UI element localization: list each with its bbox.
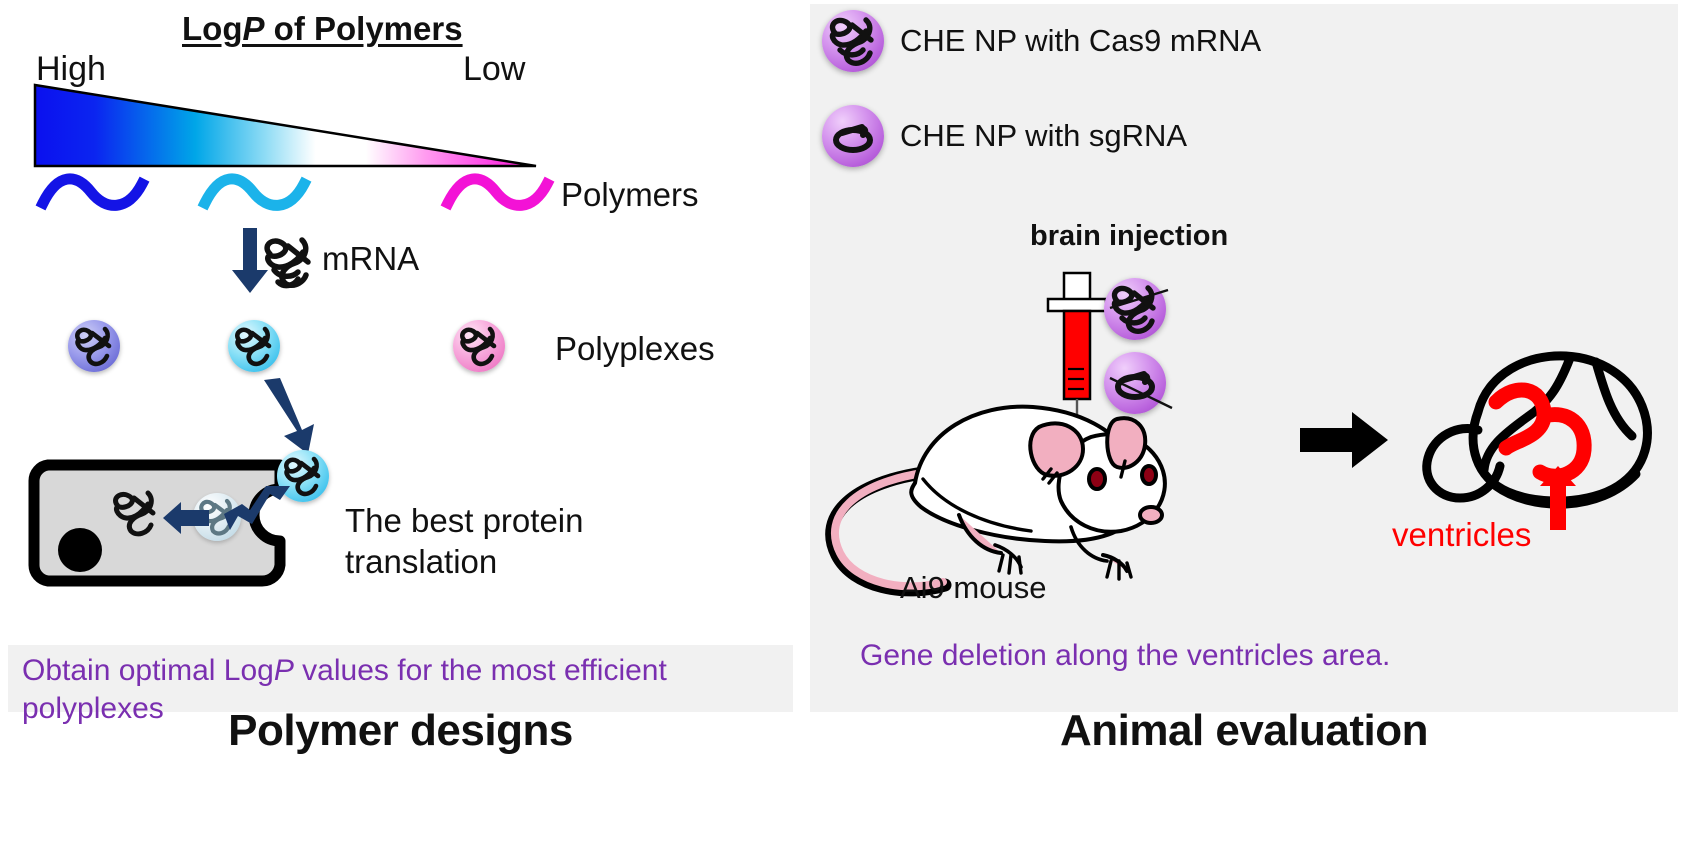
brain-injection-label: brain injection: [1030, 220, 1228, 253]
logp-heading-suffix: of Polymers: [265, 10, 463, 47]
polyplex-blue: [68, 320, 120, 372]
polymer-squiggle-cyan: [200, 170, 310, 220]
polymers-label: Polymers: [561, 176, 699, 214]
left-caption-italic-p: P: [274, 654, 294, 687]
figure-canvas: LogP of Polymers High Low: [0, 0, 1687, 854]
right-caption-text: Gene deletion along the ventricles area.: [860, 637, 1660, 675]
ventricles-label: ventricles: [1392, 516, 1531, 554]
released-mrna-icon: [108, 486, 164, 545]
process-arrow: [1300, 410, 1390, 475]
polymer-squiggle-blue: [38, 170, 148, 220]
logp-heading: LogP of Polymers: [182, 10, 463, 48]
left-panel-title: Polymer designs: [8, 706, 793, 756]
logp-heading-italic: P: [242, 10, 264, 47]
mouse-illustration: [795, 375, 1175, 600]
polymer-squiggle-magenta: [443, 170, 553, 220]
best-translation-line2: translation: [345, 541, 583, 582]
endosomal-escape-arrow: [222, 484, 294, 539]
legend-label-cas9-mrna: CHE NP with Cas9 mRNA: [900, 23, 1261, 59]
legend-np-sgrna-icon: [822, 105, 884, 167]
polyplex-pink: [453, 320, 505, 372]
mrna-scribble-icon: [258, 232, 320, 297]
legend-item-cas9-mrna: CHE NP with Cas9 mRNA: [822, 10, 1261, 72]
logp-gradient-triangle: [34, 84, 540, 170]
mouse-label: Ai9 mouse: [900, 570, 1046, 606]
mrna-label: mRNA: [322, 240, 419, 278]
best-translation-line1: The best protein: [345, 500, 583, 541]
best-translation-text: The best protein translation: [345, 500, 583, 583]
polyplexes-label: Polyplexes: [555, 330, 715, 368]
uptake-diagonal-arrow: [258, 378, 328, 461]
brain-illustration: [1400, 340, 1660, 535]
polyplex-cyan: [228, 320, 280, 372]
translation-arrow: [163, 502, 209, 541]
right-panel-title: Animal evaluation: [810, 706, 1678, 756]
left-caption-a: Obtain optimal Log: [22, 654, 274, 687]
logp-heading-prefix: Log: [182, 10, 242, 47]
legend-label-sgrna: CHE NP with sgRNA: [900, 118, 1187, 154]
legend-item-sgrna: CHE NP with sgRNA: [822, 105, 1187, 167]
legend-np-mrna-icon: [822, 10, 884, 72]
